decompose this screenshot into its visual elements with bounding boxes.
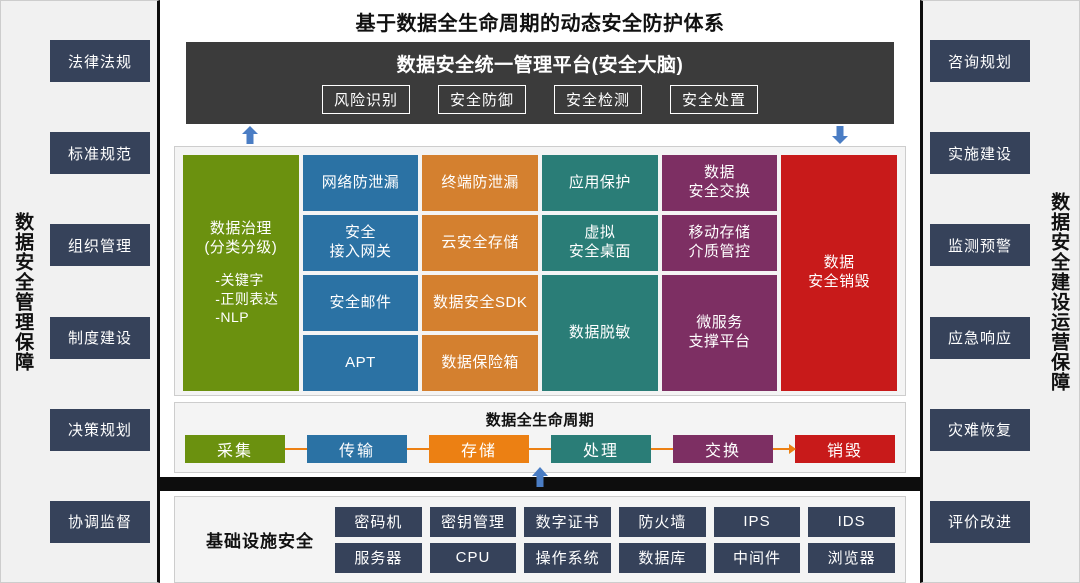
cell-label: 移动存储 介质管控 [688, 224, 750, 262]
cell-label: 数据 安全销毁 [808, 254, 870, 292]
right-sidebar-vertical-title-text: 数据安全建设运营保障 [1048, 192, 1068, 392]
left-sidebar: 数据安全管理保障 法律法规 标准规范 组织管理 制度建设 决策规划 协调监督 [0, 0, 160, 583]
lifecycle-stage-transmission[interactable]: 传输 [307, 435, 407, 463]
diagram-root: 数据安全管理保障 法律法规 标准规范 组织管理 制度建设 决策规划 协调监督 基… [0, 0, 1080, 583]
infra-item-firewall[interactable]: 防火墙 [619, 507, 706, 537]
security-disposal-button[interactable]: 安全处置 [670, 85, 758, 114]
sidebar-item-decision-planning[interactable]: 决策规划 [50, 409, 150, 451]
lifecycle-connector [407, 448, 429, 450]
cell-label: 安全 接入网关 [329, 224, 391, 262]
apt-cell[interactable]: APT [303, 335, 419, 391]
governance-sub-regex: -正则表达 [215, 290, 278, 308]
sidebar-item-label: 制度建设 [68, 327, 132, 348]
left-sidebar-vertical-title-text: 数据安全管理保障 [12, 212, 32, 372]
application-protection-cell[interactable]: 应用保护 [542, 155, 658, 211]
sidebar-item-laws[interactable]: 法律法规 [50, 40, 150, 82]
sidebar-item-organization[interactable]: 组织管理 [50, 224, 150, 266]
microservice-platform-cell[interactable]: 微服务 支撑平台 [662, 275, 778, 391]
cell-label: 虚拟 安全桌面 [569, 224, 631, 262]
cloud-secure-storage-cell[interactable]: 云安全存储 [422, 215, 538, 271]
data-governance-content: 数据治理 (分类分级) -关键字 -正则表达 -NLP [203, 220, 278, 326]
data-governance-sublist: -关键字 -正则表达 -NLP [203, 271, 278, 326]
sidebar-item-implementation[interactable]: 实施建设 [930, 132, 1030, 174]
lifecycle-title: 数据全生命周期 [185, 409, 895, 435]
sidebar-item-evaluation-improvement[interactable]: 评价改进 [930, 501, 1030, 543]
lifecycle-stage-destruction[interactable]: 销毁 [795, 435, 895, 463]
lifecycle-stage-collection[interactable]: 采集 [185, 435, 285, 463]
sidebar-item-label: 组织管理 [68, 235, 132, 256]
data-security-sdk-cell[interactable]: 数据安全SDK [422, 275, 538, 331]
infrastructure-items: 密码机 密钥管理 数字证书 防火墙 IPS IDS 服务器 CPU 操作系统 数… [335, 507, 895, 573]
lifecycle-connector [651, 448, 673, 450]
governance-sub-keyword: -关键字 [215, 271, 278, 289]
infra-item-middleware[interactable]: 中间件 [714, 543, 801, 573]
sidebar-item-consulting-planning[interactable]: 咨询规划 [930, 40, 1030, 82]
cell-label: 微服务 支撑平台 [688, 314, 750, 352]
sidebar-item-label: 监测预警 [948, 235, 1012, 256]
left-sidebar-vertical-title: 数据安全管理保障 [1, 1, 43, 582]
lifecycle-connector [285, 448, 307, 450]
infra-item-operating-system[interactable]: 操作系统 [524, 543, 611, 573]
data-governance-title-line1: 数据治理 [210, 220, 272, 239]
data-safe-box-cell[interactable]: 数据保险箱 [422, 335, 538, 391]
arrow-up-icon [530, 466, 550, 493]
center-column: 基于数据全生命周期的动态安全防护体系 数据安全统一管理平台(安全大脑) 风险识别… [160, 0, 920, 583]
sidebar-item-disaster-recovery[interactable]: 灾难恢复 [930, 409, 1030, 451]
data-governance-title-line2: (分类分级) [204, 239, 277, 258]
sidebar-item-label: 协调监督 [68, 511, 132, 532]
sidebar-item-label: 灾难恢复 [948, 419, 1012, 440]
security-defense-button[interactable]: 安全防御 [438, 85, 526, 114]
virtual-secure-desktop-cell[interactable]: 虚拟 安全桌面 [542, 215, 658, 271]
sidebar-item-system-construction[interactable]: 制度建设 [50, 317, 150, 359]
lifecycle-stage-storage[interactable]: 存储 [429, 435, 529, 463]
security-brain-buttons: 风险识别 安全防御 安全检测 安全处置 [186, 85, 894, 114]
data-secure-destruction-cell[interactable]: 数据 安全销毁 [781, 155, 897, 391]
lifecycle-panel: 数据全生命周期 采集 传输 存储 处理 交换 销毁 [174, 402, 906, 473]
data-governance-cell[interactable]: 数据治理 (分类分级) -关键字 -正则表达 -NLP [183, 155, 299, 391]
sidebar-item-label: 决策规划 [68, 419, 132, 440]
infrastructure-panel: 基础设施安全 密码机 密钥管理 数字证书 防火墙 IPS IDS 服务器 CPU… [174, 496, 906, 583]
sidebar-item-label: 标准规范 [68, 143, 132, 164]
sidebar-item-label: 评价改进 [948, 511, 1012, 532]
arrow-down-icon [830, 125, 850, 145]
network-dlp-cell[interactable]: 网络防泄漏 [303, 155, 419, 211]
page-title: 基于数据全生命周期的动态安全防护体系 [160, 0, 920, 42]
brain-connector-arrows [160, 124, 920, 146]
infra-item-ips[interactable]: IPS [714, 507, 801, 537]
infra-item-cipher-machine[interactable]: 密码机 [335, 507, 422, 537]
sidebar-item-label: 实施建设 [948, 143, 1012, 164]
security-brain-title: 数据安全统一管理平台(安全大脑) [186, 50, 894, 85]
sidebar-item-label: 应急响应 [948, 327, 1012, 348]
data-masking-cell[interactable]: 数据脱敏 [542, 275, 658, 391]
sidebar-item-emergency-response[interactable]: 应急响应 [930, 317, 1030, 359]
left-sidebar-items: 法律法规 标准规范 组织管理 制度建设 决策规划 协调监督 [43, 1, 157, 582]
lifecycle-connector-arrow-icon [773, 448, 795, 450]
data-secure-exchange-cell[interactable]: 数据 安全交换 [662, 155, 778, 211]
infra-item-server[interactable]: 服务器 [335, 543, 422, 573]
infra-item-cpu[interactable]: CPU [430, 543, 517, 573]
governance-sub-nlp: -NLP [215, 308, 278, 326]
security-detection-button[interactable]: 安全检测 [554, 85, 642, 114]
right-sidebar-vertical-title: 数据安全建设运营保障 [1037, 1, 1079, 582]
capability-grid: 数据治理 (分类分级) -关键字 -正则表达 -NLP 网络防泄漏 终端防泄漏 … [183, 155, 897, 387]
sidebar-item-label: 法律法规 [68, 51, 132, 72]
infra-item-key-management[interactable]: 密钥管理 [430, 507, 517, 537]
secure-access-gateway-cell[interactable]: 安全 接入网关 [303, 215, 419, 271]
right-sidebar: 咨询规划 实施建设 监测预警 应急响应 灾难恢复 评价改进 数据安全建设运营保障 [920, 0, 1080, 583]
infra-item-database[interactable]: 数据库 [619, 543, 706, 573]
infrastructure-divider-band [160, 477, 920, 491]
sidebar-item-standards[interactable]: 标准规范 [50, 132, 150, 174]
lifecycle-stage-processing[interactable]: 处理 [551, 435, 651, 463]
infra-item-browser[interactable]: 浏览器 [808, 543, 895, 573]
lifecycle-connector [529, 448, 551, 450]
secure-email-cell[interactable]: 安全邮件 [303, 275, 419, 331]
sidebar-item-label: 咨询规划 [948, 51, 1012, 72]
right-sidebar-items: 咨询规划 实施建设 监测预警 应急响应 灾难恢复 评价改进 [923, 1, 1037, 582]
risk-identification-button[interactable]: 风险识别 [322, 85, 410, 114]
sidebar-item-monitoring-alert[interactable]: 监测预警 [930, 224, 1030, 266]
lifecycle-row: 采集 传输 存储 处理 交换 销毁 [185, 435, 895, 463]
arrow-up-icon [240, 125, 260, 145]
cell-label: 数据 安全交换 [688, 164, 750, 202]
sidebar-item-coordination-supervision[interactable]: 协调监督 [50, 501, 150, 543]
endpoint-dlp-cell[interactable]: 终端防泄漏 [422, 155, 538, 211]
capability-panel: 数据治理 (分类分级) -关键字 -正则表达 -NLP 网络防泄漏 终端防泄漏 … [174, 146, 906, 396]
infrastructure-label: 基础设施安全 [185, 527, 335, 552]
infra-item-digital-certificate[interactable]: 数字证书 [524, 507, 611, 537]
removable-media-control-cell[interactable]: 移动存储 介质管控 [662, 215, 778, 271]
security-brain-panel: 数据安全统一管理平台(安全大脑) 风险识别 安全防御 安全检测 安全处置 [186, 42, 894, 124]
lifecycle-stage-exchange[interactable]: 交换 [673, 435, 773, 463]
infra-item-ids[interactable]: IDS [808, 507, 895, 537]
